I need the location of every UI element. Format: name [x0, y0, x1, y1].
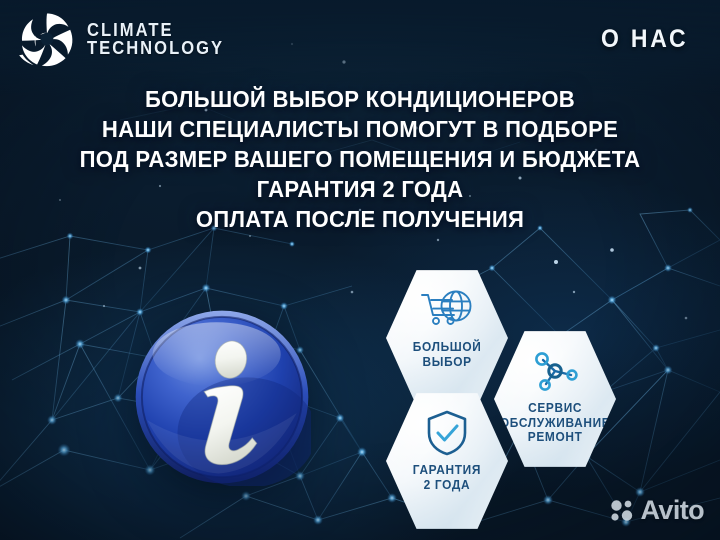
feature-hex-warranty-label: ГАРАНТИЯ 2 ГОДА — [413, 463, 481, 492]
avito-wordmark: Avito — [641, 495, 705, 526]
avito-dots-icon — [609, 499, 635, 523]
feature-hex-choice-label: БОЛЬШОЙ ВЫБОР — [413, 340, 482, 369]
poster-canvas: CLIMATE TECHNOLOGY О НАС БОЛЬШОЙ ВЫБОР К… — [0, 0, 720, 540]
network-nodes-icon — [530, 346, 580, 396]
feature-hex-service[interactable]: СЕРВИС ОБСЛУЖИВАНИЕ РЕМОНТ — [494, 329, 616, 469]
shield-check-icon — [425, 408, 469, 458]
shopping-cart-globe-icon — [418, 285, 476, 335]
feature-hex-service-label: СЕРВИС ОБСЛУЖИВАНИЕ РЕМОНТ — [500, 401, 610, 445]
feature-hex-choice[interactable]: БОЛЬШОЙ ВЫБОР — [386, 268, 508, 408]
feature-hex-cluster: БОЛЬШОЙ ВЫБОР СЕРВИС ОБСЛУЖИВАНИ — [0, 0, 720, 540]
feature-hex-warranty[interactable]: ГАРАНТИЯ 2 ГОДА — [386, 391, 508, 531]
avito-watermark: Avito — [609, 495, 705, 526]
